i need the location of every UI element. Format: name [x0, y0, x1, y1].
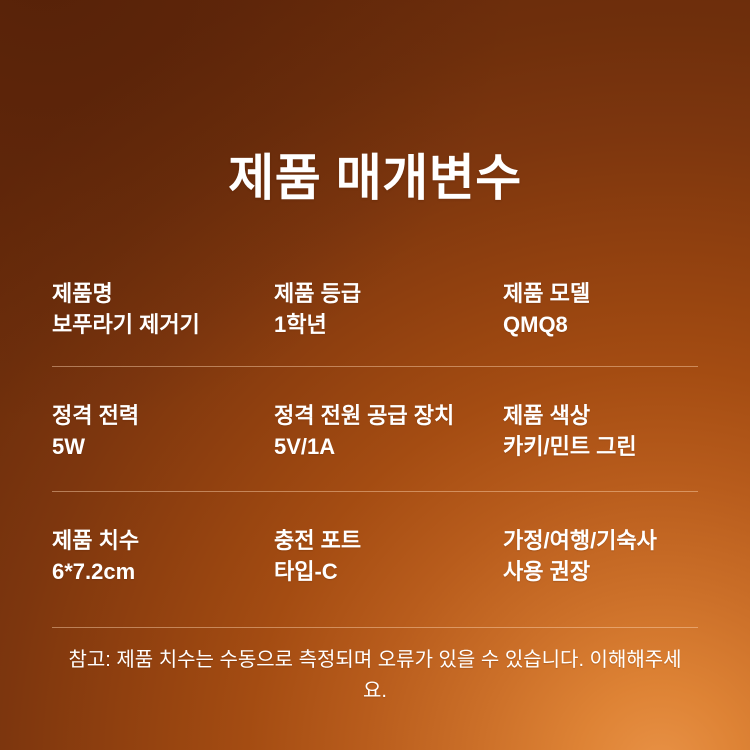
spec-value: 6*7.2cm	[52, 556, 264, 587]
footer-divider	[52, 627, 698, 628]
spec-row: 정격 전력 5W 정격 전원 공급 장치 5V/1A 제품 색상 카키/민트 그…	[52, 366, 698, 491]
spec-label: 제품 모델	[503, 278, 688, 309]
spec-cell-product-dimensions: 제품 치수 6*7.2cm	[52, 525, 274, 587]
product-parameters-poster: 제품 매개변수 제품명 보푸라기 제거기 제품 등급 1학년 제품 모델 QMQ…	[0, 0, 750, 750]
spec-value: 사용 권장	[503, 556, 688, 587]
spec-label: 가정/여행/기숙사	[503, 525, 688, 556]
page-title: 제품 매개변수	[0, 152, 750, 205]
spec-cell-rated-power-supply: 정격 전원 공급 장치 5V/1A	[274, 400, 503, 462]
spec-cell-product-name: 제품명 보푸라기 제거기	[52, 278, 274, 340]
spec-label: 제품 색상	[503, 400, 688, 431]
poster-content: 제품 매개변수 제품명 보푸라기 제거기 제품 등급 1학년 제품 모델 QMQ…	[0, 0, 750, 750]
spec-cell-charging-port: 충전 포트 타입-C	[274, 525, 503, 587]
spec-cell-product-grade: 제품 등급 1학년	[274, 278, 503, 340]
spec-cell-rated-power: 정격 전력 5W	[52, 400, 274, 462]
spec-label: 제품 등급	[274, 278, 493, 309]
spec-value: 보푸라기 제거기	[52, 309, 264, 340]
spec-cell-product-model: 제품 모델 QMQ8	[503, 278, 698, 340]
footer-note: 참고: 제품 치수는 수동으로 측정되며 오류가 있을 수 있습니다. 이해해주…	[0, 645, 750, 707]
spec-label: 충전 포트	[274, 525, 493, 556]
spec-value: QMQ8	[503, 309, 688, 340]
spec-table: 제품명 보푸라기 제거기 제품 등급 1학년 제품 모델 QMQ8 정격 전력 …	[52, 278, 698, 616]
spec-cell-usage-recommendation: 가정/여행/기숙사 사용 권장	[503, 525, 698, 587]
spec-label: 정격 전원 공급 장치	[274, 400, 493, 431]
spec-cell-product-color: 제품 색상 카키/민트 그린	[503, 400, 698, 462]
spec-row: 제품명 보푸라기 제거기 제품 등급 1학년 제품 모델 QMQ8	[52, 278, 698, 366]
spec-value: 1학년	[274, 309, 493, 340]
spec-value: 카키/민트 그린	[503, 431, 688, 462]
spec-row: 제품 치수 6*7.2cm 충전 포트 타입-C 가정/여행/기숙사 사용 권장	[52, 491, 698, 616]
spec-value: 5W	[52, 431, 264, 462]
spec-label: 제품명	[52, 278, 264, 309]
spec-value: 타입-C	[274, 556, 493, 587]
spec-label: 제품 치수	[52, 525, 264, 556]
spec-value: 5V/1A	[274, 431, 493, 462]
spec-label: 정격 전력	[52, 400, 264, 431]
